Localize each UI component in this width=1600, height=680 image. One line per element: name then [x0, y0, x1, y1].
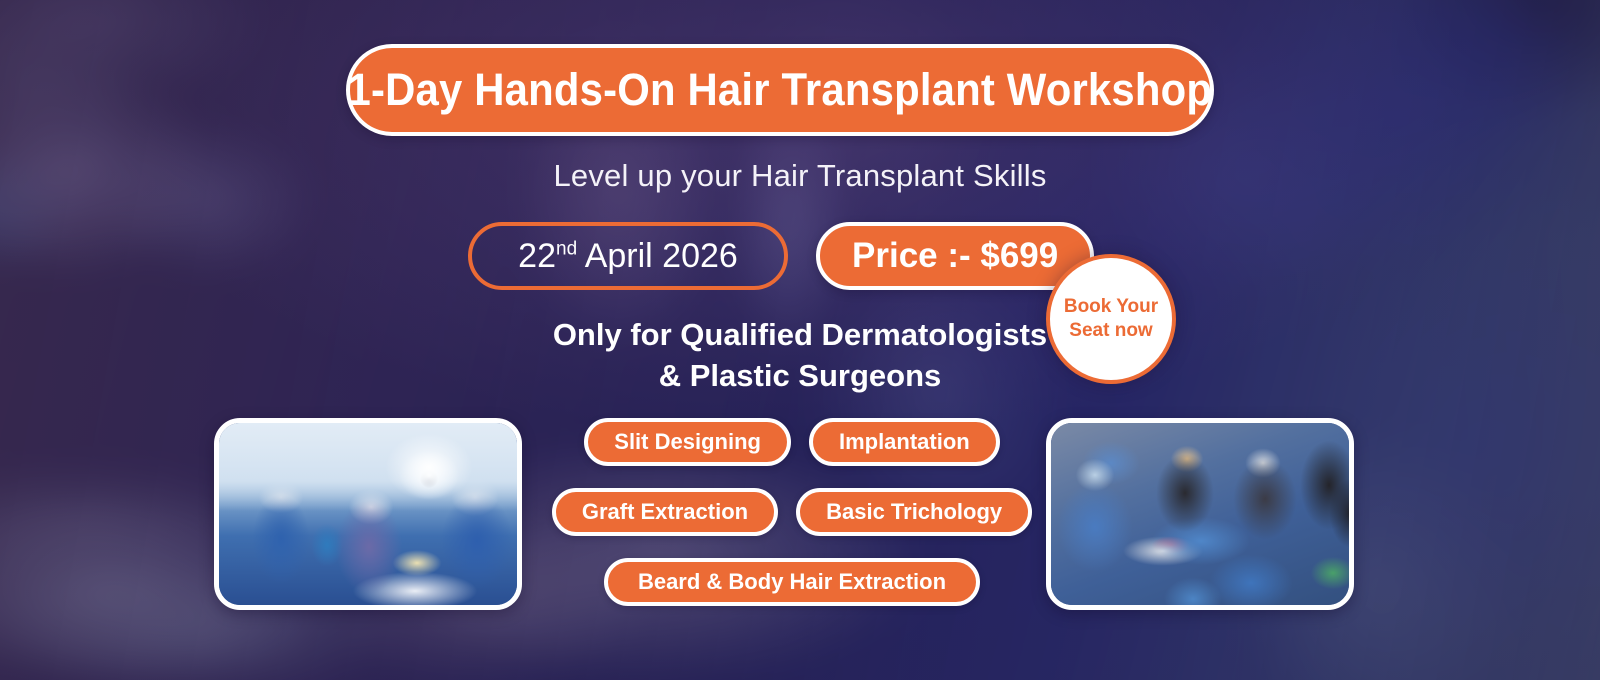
price-pill: Price :- $699 — [816, 222, 1094, 290]
photo-left-image — [219, 423, 517, 605]
workshop-subtitle: Level up your Hair Transplant Skills — [0, 158, 1600, 194]
event-date: 22nd April 2026 — [518, 237, 738, 276]
topic-pill-basic-trichology[interactable]: Basic Trichology — [796, 488, 1032, 536]
promo-banner: 1-Day Hands-On Hair Transplant Workshop … — [0, 0, 1600, 680]
date-day: 22 — [518, 237, 556, 275]
audience-note: Only for Qualified Dermatologists & Plas… — [0, 314, 1600, 396]
topic-pill-slit-designing[interactable]: Slit Designing — [584, 418, 791, 466]
photo-right-image — [1051, 423, 1349, 605]
photo-left — [214, 418, 522, 610]
topic-list: Slit Designing Implantation Graft Extrac… — [548, 418, 1036, 606]
audience-line-1: Only for Qualified Dermatologists — [0, 314, 1600, 355]
workshop-title-pill: 1-Day Hands-On Hair Transplant Workshop — [346, 44, 1214, 136]
topic-pill-implantation[interactable]: Implantation — [809, 418, 1000, 466]
topic-pill-graft-extraction[interactable]: Graft Extraction — [552, 488, 778, 536]
photo-right — [1046, 418, 1354, 610]
workshop-title: 1-Day Hands-On Hair Transplant Workshop — [348, 64, 1213, 116]
price-label: Price :- $699 — [852, 236, 1058, 276]
audience-line-2: & Plastic Surgeons — [0, 355, 1600, 396]
date-ordinal-suffix: nd — [556, 238, 577, 259]
date-month-year: April 2026 — [577, 237, 738, 275]
event-date-pill: 22nd April 2026 — [468, 222, 788, 290]
topic-pill-beard-body-hair-extraction[interactable]: Beard & Body Hair Extraction — [604, 558, 980, 606]
date-price-row: 22nd April 2026 Price :- $699 — [468, 222, 1094, 290]
banner-content: 1-Day Hands-On Hair Transplant Workshop … — [0, 0, 1600, 680]
